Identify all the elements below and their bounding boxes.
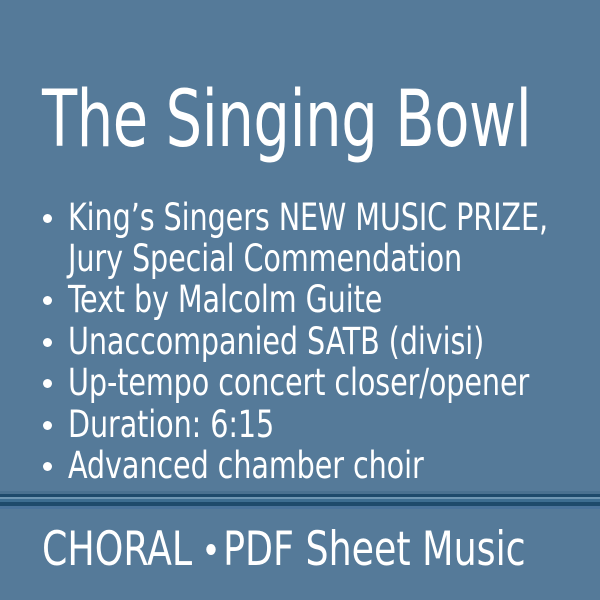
list-item: Up-tempo concert closer/opener [42, 363, 582, 404]
feature-list: King’s Singers NEW MUSIC PRIZE, Jury Spe… [42, 198, 582, 488]
list-item-label: Up-tempo concert closer/opener [68, 363, 581, 404]
product-card: The Singing Bowl King’s Singers NEW MUSI… [0, 0, 600, 600]
bullet-icon [43, 338, 52, 347]
list-item: Advanced chamber choir [42, 446, 582, 487]
bullet-icon [43, 421, 52, 430]
list-item: King’s Singers NEW MUSIC PRIZE, Jury Spe… [42, 198, 582, 279]
list-item: Text by Malcolm Guite [42, 280, 582, 321]
list-item-label: Duration: 6:15 [68, 405, 581, 446]
format-label: PDF Sheet Music [223, 522, 526, 577]
page-title: The Singing Bowl [42, 78, 468, 162]
list-item-label: Text by Malcolm Guite [68, 280, 581, 321]
divider-band [0, 506, 600, 509]
bullet-icon [43, 379, 52, 388]
list-item: Unaccompanied SATB (divisi) [42, 322, 582, 363]
list-item-label: Unaccompanied SATB (divisi) [68, 322, 581, 363]
section-divider [0, 491, 600, 509]
footer: CHORALPDF Sheet Music [42, 524, 526, 576]
bullet-icon [43, 462, 52, 471]
category-label: CHORAL [42, 522, 192, 577]
bullet-icon [43, 296, 52, 305]
separator-dot-icon [206, 544, 215, 555]
bullet-icon [43, 214, 52, 223]
list-item: Duration: 6:15 [42, 405, 582, 446]
list-item-label: Advanced chamber choir [68, 446, 581, 487]
list-item-label: King’s Singers NEW MUSIC PRIZE, Jury Spe… [68, 198, 581, 279]
